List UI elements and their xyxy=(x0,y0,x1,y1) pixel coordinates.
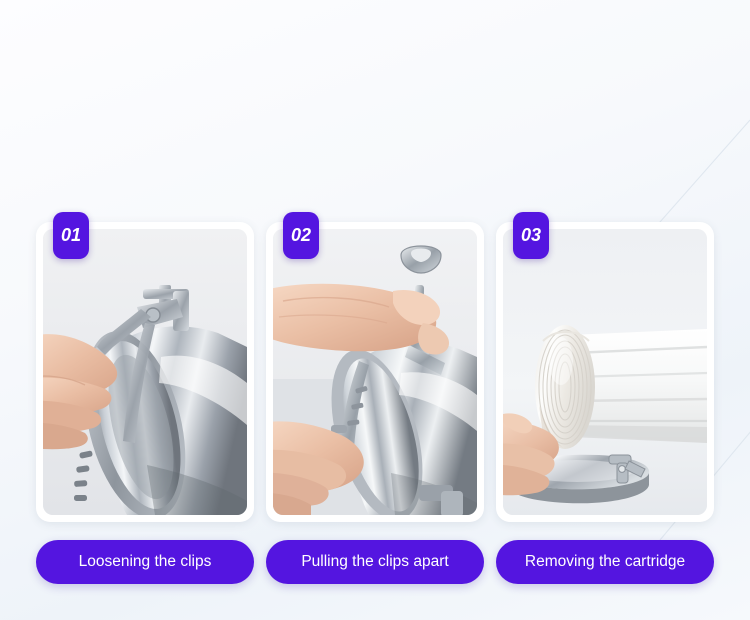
photo-frame-1 xyxy=(36,222,254,522)
infographic-page: THREE EASY STEPS TO CHANGE THE CORE Easy… xyxy=(0,0,750,620)
step-photo-2 xyxy=(273,229,477,515)
step-photo-1 xyxy=(43,229,247,515)
step-card-2: 02 Pulling the clips apart xyxy=(266,222,484,584)
step-badge-2: 02 xyxy=(283,212,319,259)
photo-frame-3 xyxy=(496,222,714,522)
steps-row: 01 Loosening the clips xyxy=(0,222,750,584)
step-caption-2[interactable]: Pulling the clips apart xyxy=(266,540,484,584)
step-photo-3 xyxy=(503,229,707,515)
photo-frame-2 xyxy=(266,222,484,522)
step-card-3: 03 Removing the cartridge xyxy=(496,222,714,584)
step-card-1: 01 Loosening the clips xyxy=(36,222,254,584)
step-caption-1[interactable]: Loosening the clips xyxy=(36,540,254,584)
step-badge-1: 01 xyxy=(53,212,89,259)
step-caption-3[interactable]: Removing the cartridge xyxy=(496,540,714,584)
step-badge-3: 03 xyxy=(513,212,549,259)
